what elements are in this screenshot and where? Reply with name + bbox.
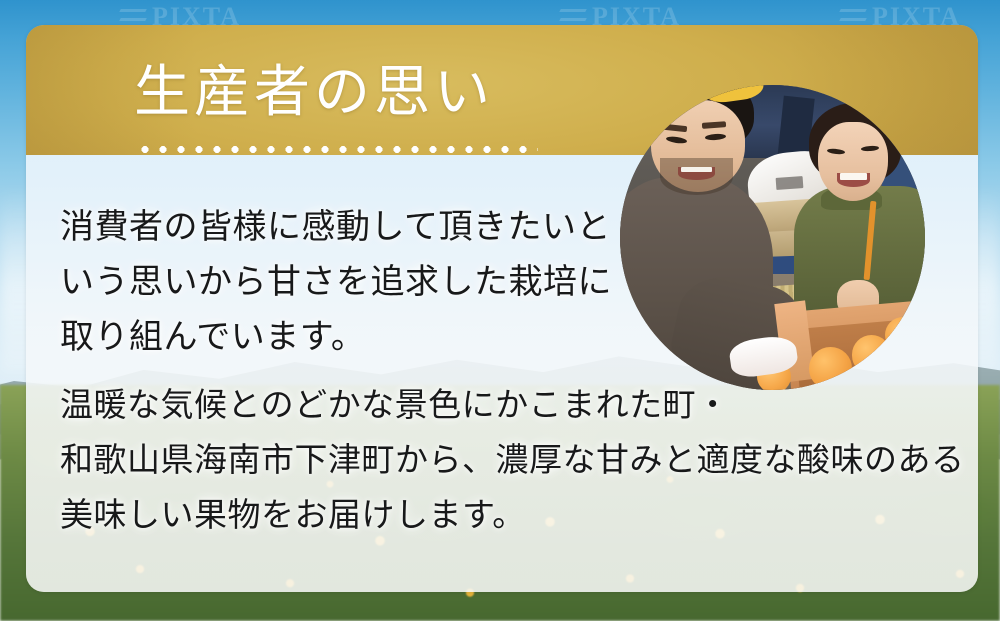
paragraph-line: いう思いから甘さを追求した栽培に [60,255,680,310]
screenshot-root: PIXTA PIXTA PIXTA 生産者の思い 消費者の皆様に感動して頂きたい… [0,0,1000,621]
paragraph-line: 和歌山県海南市下津町から、濃厚な甘みと適度な酸味のある [60,434,680,489]
paragraph-line: 取り組んでいます。 [60,310,680,365]
paragraph-2: 温暖な気候とのどかな景色にかこまれた町・ 和歌山県海南市下津町から、濃厚な甘みと… [60,379,680,544]
photo-woman-face [818,122,888,201]
paragraph-line: 美味しい果物をお届けします。 [60,489,680,544]
producers-photo [620,85,925,390]
photo-orange [885,317,922,354]
paragraph-1: 消費者の皆様に感動して頂きたいと いう思いから甘さを追求した栽培に 取り組んでい… [60,200,680,365]
body-text: 消費者の皆様に感動して頂きたいと いう思いから甘さを追求した栽培に 取り組んでい… [60,200,680,544]
photo-orange [809,347,852,390]
paragraph-line: 温暖な気候とのどかな景色にかこまれた町・ [60,379,680,434]
paragraph-line: 消費者の皆様に感動して頂きたいと [60,200,680,255]
photo-woman-teeth [840,173,867,179]
header-dotted-divider [136,146,538,153]
photo-man-brow-right [702,121,727,129]
page-title: 生産者の思い [134,65,494,121]
photo-man-teeth [681,167,712,172]
photo-sack-label [775,176,803,190]
